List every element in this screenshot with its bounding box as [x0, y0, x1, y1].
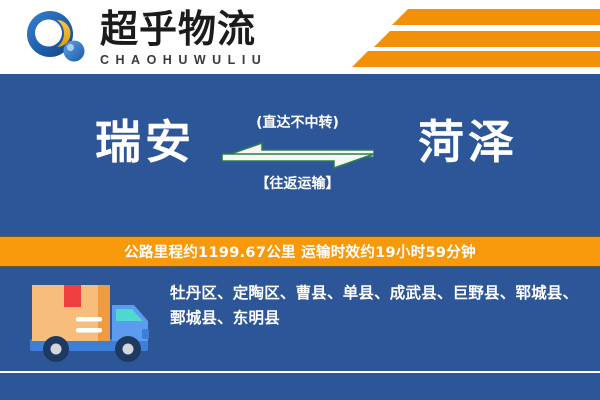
distance-and-duration-label: 公路里程约1199.67公里 运输时效约19小时59分钟: [124, 241, 476, 262]
brand-name-en: CHAOHUWULIU: [100, 52, 267, 68]
circle-crescent-logo-icon: [24, 10, 90, 64]
bottom-divider: [0, 371, 600, 373]
origin-city: 瑞安: [60, 114, 230, 170]
coverage-districts-label: 牡丹区、定陶区、曹县、单县、成武县、巨野县、郓城县、鄄城县、东明县: [170, 281, 580, 331]
speed-stripe-3-icon: [352, 51, 600, 67]
banner-header: 超乎物流 CHAOHUWULIU: [0, 0, 600, 72]
roundtrip-note: 【往返运输】: [215, 175, 380, 193]
brand-block: 超乎物流 CHAOHUWULIU: [100, 6, 267, 68]
route-info-bar: 公路里程约1199.67公里 运输时效约19小时59分钟: [0, 236, 600, 267]
route-middle-block: (直达不中转) 【往返运输】: [215, 114, 380, 193]
coverage-panel: 牡丹区、定陶区、曹县、单县、成武县、巨野县、郓城县、鄄城县、东明县: [0, 267, 600, 400]
route-panel: 瑞安 (直达不中转) 【往返运输】 菏泽: [0, 72, 600, 236]
destination-city: 菏泽: [378, 114, 558, 170]
brand-name-cn: 超乎物流: [100, 6, 267, 52]
direct-shipping-note: (直达不中转): [215, 114, 380, 132]
speed-stripe-2-icon: [374, 31, 600, 47]
bidirectional-arrow-icon: [222, 137, 374, 171]
delivery-truck-icon: [24, 277, 160, 373]
speed-stripes-icon: [392, 9, 600, 25]
logistics-route-banner: 超乎物流 CHAOHUWULIU 瑞安 (直达不中转) 【往返运输】 菏泽: [0, 0, 600, 400]
